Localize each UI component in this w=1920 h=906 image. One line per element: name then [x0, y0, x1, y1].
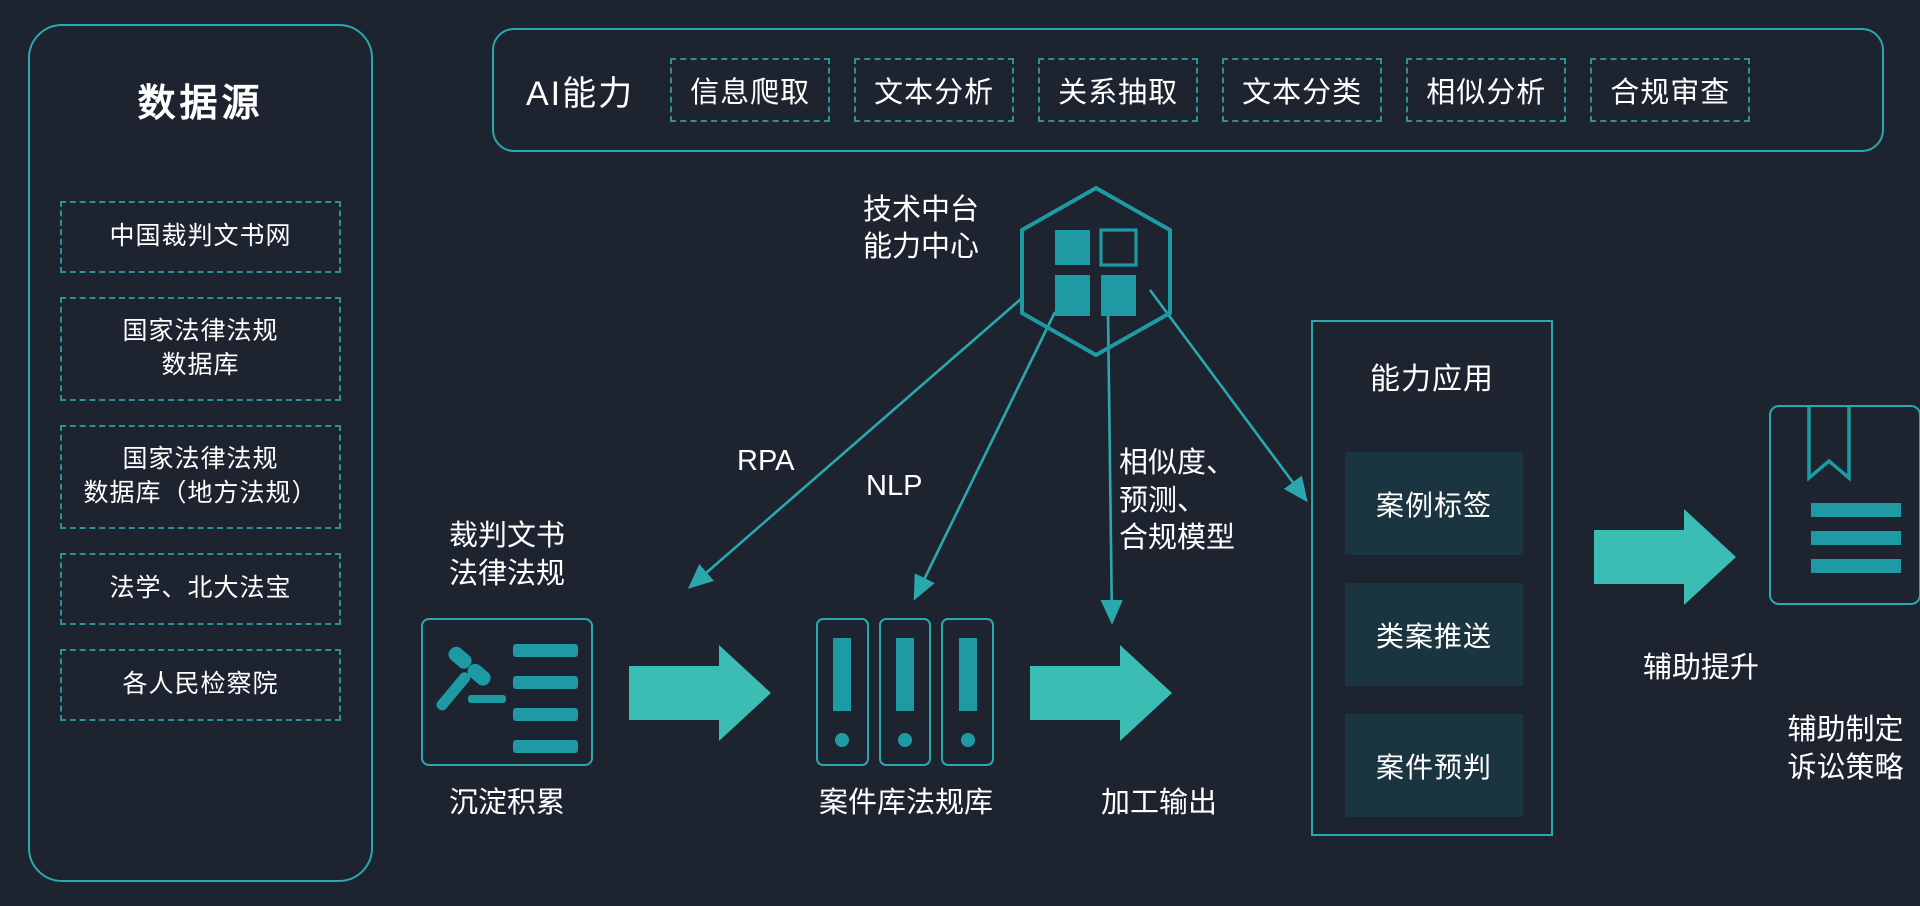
server-bar-icon — [959, 638, 977, 711]
ai-chip-text-classification[interactable]: 文本分类 — [1222, 58, 1382, 122]
ai-chip-info-crawl[interactable]: 信息爬取 — [670, 58, 830, 122]
result-caption: 辅助制定 诉讼策略 — [1738, 712, 1920, 787]
data-source-panel: 数据源 中国裁判文书网 国家法律法规 数据库 国家法律法规 数据库（地方法规） … — [28, 24, 373, 882]
server-rack-1-icon — [816, 618, 869, 766]
capability-application-panel: 能力应用 案例标签 类案推送 案件预判 — [1311, 320, 1553, 836]
server-bar-icon — [833, 638, 851, 711]
ai-capability-title: AI能力 — [526, 66, 634, 115]
capability-card-similar-case-push[interactable]: 类案推送 — [1345, 583, 1523, 686]
ai-chip-text-analysis[interactable]: 文本分析 — [854, 58, 1014, 122]
server-dot-icon — [898, 733, 912, 747]
databases-icon-box[interactable] — [816, 618, 994, 766]
diagram-canvas: 数据源 中国裁判文书网 国家法律法规 数据库 国家法律法规 数据库（地方法规） … — [0, 0, 1920, 906]
ai-chip-similarity-analysis[interactable]: 相似分析 — [1406, 58, 1566, 122]
data-source-item-4[interactable]: 法学、北大法宝 — [60, 553, 341, 625]
ai-capability-bar: AI能力 信息爬取 文本分析 关系抽取 文本分类 相似分析 合规审查 — [492, 28, 1884, 152]
pipeline-arrow-1-icon — [629, 645, 771, 741]
data-source-item-1[interactable]: 中国裁判文书网 — [60, 201, 341, 273]
server-bar-icon — [896, 638, 914, 711]
databases-caption: 案件库法规库 — [796, 785, 1016, 823]
server-rack-2-icon — [879, 618, 932, 766]
capability-card-case-prediction[interactable]: 案件预判 — [1345, 714, 1523, 817]
data-source-title: 数据源 — [30, 72, 371, 127]
hub-label: 技术中台 能力中心 — [836, 192, 1006, 266]
server-rack-3-icon — [941, 618, 994, 766]
edge-label-similarity: 相似度、 预测、 合规模型 — [1119, 445, 1235, 558]
data-source-item-2[interactable]: 国家法律法规 数据库 — [60, 297, 341, 401]
output-caption: 加工输出 — [1073, 785, 1245, 823]
assist-arrow-caption: 辅助提升 — [1601, 650, 1801, 688]
ai-capability-chip-list: 信息爬取 文本分析 关系抽取 文本分类 相似分析 合规审查 — [670, 58, 1750, 122]
documents-icon-box[interactable] — [421, 618, 593, 766]
documents-caption: 沉淀积累 — [421, 785, 593, 823]
hex-square-top-left-icon — [1055, 230, 1090, 265]
capability-application-title: 能力应用 — [1313, 354, 1551, 398]
ai-chip-compliance-review[interactable]: 合规审查 — [1590, 58, 1750, 122]
capability-application-card-list: 案例标签 类案推送 案件预判 — [1345, 452, 1523, 845]
data-source-item-5[interactable]: 各人民检察院 — [60, 649, 341, 721]
data-source-item-3[interactable]: 国家法律法规 数据库（地方法规） — [60, 425, 341, 529]
server-dot-icon — [835, 733, 849, 747]
edge-label-rpa: RPA — [737, 443, 794, 481]
hex-square-top-right-icon — [1101, 230, 1136, 265]
result-icon-box[interactable] — [1769, 405, 1920, 605]
server-dot-icon — [961, 733, 975, 747]
hex-square-bottom-right-icon — [1101, 275, 1136, 316]
hexagon-outline-icon — [1022, 188, 1170, 355]
hex-square-bottom-left-icon — [1055, 275, 1090, 316]
pipeline-arrow-2-icon — [1030, 645, 1172, 741]
edge-label-nlp: NLP — [866, 468, 922, 506]
pipeline-arrow-3-icon — [1594, 509, 1736, 605]
data-source-list: 中国裁判文书网 国家法律法规 数据库 国家法律法规 数据库（地方法规） 法学、北… — [60, 201, 341, 745]
capability-card-case-tag[interactable]: 案例标签 — [1345, 452, 1523, 555]
documents-title: 裁判文书 法律法规 — [421, 518, 593, 593]
ai-chip-relation-extraction[interactable]: 关系抽取 — [1038, 58, 1198, 122]
